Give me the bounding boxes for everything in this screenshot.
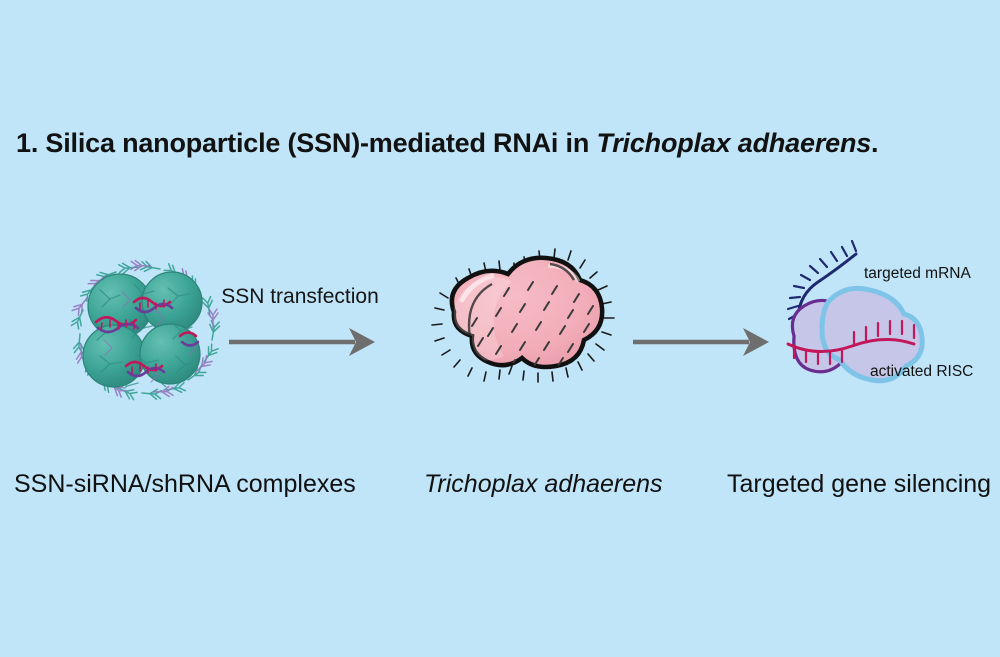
trichoplax-organism-icon bbox=[400, 240, 640, 420]
page-title: 1. Silica nanoparticle (SSN)-mediated RN… bbox=[16, 128, 878, 159]
caption-ssn-complex: SSN-siRNA/shRNA complexes bbox=[14, 470, 356, 499]
activated-risc-label: activated RISC bbox=[870, 363, 973, 380]
caption-trichoplax: Trichoplax adhaerens bbox=[424, 470, 663, 499]
figure-canvas: 1. Silica nanoparticle (SSN)-mediated RN… bbox=[0, 0, 1000, 657]
step-trichoplax bbox=[400, 240, 640, 420]
title-number: 1. bbox=[16, 128, 38, 158]
ssn-transfection-arrow bbox=[205, 322, 395, 362]
arrow-1-label: SSN transfection bbox=[205, 285, 395, 309]
title-text-before: Silica nanoparticle (SSN)-mediated RNAi … bbox=[38, 128, 596, 158]
arrow-1-group: SSN transfection bbox=[205, 240, 395, 420]
step-gene-silencing: targeted mRNA bbox=[760, 240, 1000, 420]
targeted-mrna-label: targeted mRNA bbox=[864, 265, 971, 282]
title-species-name: Trichoplax adhaerens bbox=[596, 128, 871, 158]
caption-gene-silencing: Targeted gene silencing bbox=[727, 470, 991, 499]
activated-risc-icon: targeted mRNA bbox=[760, 240, 1000, 420]
title-text-after: . bbox=[871, 128, 878, 158]
diagram-stage: SSN transfection bbox=[0, 240, 1000, 420]
caption-row: SSN-siRNA/shRNA complexes Trichoplax adh… bbox=[0, 470, 1000, 510]
